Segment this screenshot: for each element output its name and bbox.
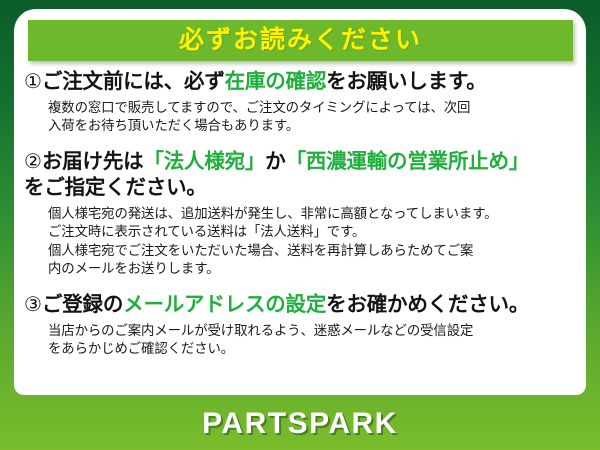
white-content-panel: 必ずお読みください ①ご注文前には、必ず在庫の確認をお願いします。 複数の窓口で… xyxy=(14,9,586,395)
heading-segment: ご注文前には、必ず xyxy=(42,70,225,93)
notice-list: ①ご注文前には、必ず在庫の確認をお願いします。 複数の窓口で販売してますので、ご… xyxy=(14,69,586,359)
notice-marker-3: ③ xyxy=(24,294,42,316)
footer-brand: PARTSPARK xyxy=(0,398,600,450)
notice-item-1-body: 複数の窓口で販売してますので、ご注文のタイミングによっては、次回 入荷をお待ち頂… xyxy=(48,99,578,136)
heading-segment: お届け先は xyxy=(42,150,144,173)
notice-item-3: ③ご登録のメールアドレスの設定をお確かめください。 当店からのご案内メールが受け… xyxy=(14,292,586,359)
notice-marker-2: ② xyxy=(24,151,42,173)
body-line: 入荷をお待ち頂いただく場合もあります。 xyxy=(48,117,578,136)
notice-banner: 必ずお読みください ①ご注文前には、必ず在庫の確認をお願いします。 複数の窓口で… xyxy=(0,0,600,450)
notice-item-3-heading: ③ご登録のメールアドレスの設定をお確かめください。 xyxy=(24,292,578,319)
heading-segment-highlight: 在庫の確認 xyxy=(225,70,327,93)
notice-marker-1: ① xyxy=(24,71,42,93)
brand-name: PARTSPARK xyxy=(202,409,398,439)
body-line: 当店からのご案内メールが受け取れるよう、迷惑メールなどの受信設定 xyxy=(48,322,578,341)
heading-segment-highlight: メールアドレスの設定 xyxy=(123,293,326,316)
title-banner: 必ずお読みください xyxy=(28,20,573,61)
heading-segment: ご登録の xyxy=(42,293,123,316)
notice-item-2-heading: ②お届け先は「法人様宛」か「西濃運輸の営業所止め」 をご指定ください。 xyxy=(24,149,578,202)
heading-segment-highlight: 「法人様宛」 xyxy=(143,150,265,173)
heading-segment: をお願いします。 xyxy=(326,70,486,93)
notice-item-3-body: 当店からのご案内メールが受け取れるよう、迷惑メールなどの受信設定 をあらかじめご… xyxy=(48,322,578,359)
body-line: 複数の窓口で販売してますので、ご注文のタイミングによっては、次回 xyxy=(48,99,578,118)
body-line: 内のメールをお送りします。 xyxy=(48,260,578,279)
body-line: をあらかじめご確認ください。 xyxy=(48,340,578,359)
notice-item-2: ②お届け先は「法人様宛」か「西濃運輸の営業所止め」 をご指定ください。 個人様宅… xyxy=(14,149,586,279)
heading-segment-highlight: 「西濃運輸の営業所止め」 xyxy=(286,150,530,173)
body-line: 個人様宅宛でご注文をいただいた場合、送料を再計算しあらためてご案 xyxy=(48,242,578,261)
body-line: 個人様宅宛の発送は、追加送料が発生し、非常に高額となってしまいます。 xyxy=(48,205,578,224)
notice-item-1-heading: ①ご注文前には、必ず在庫の確認をお願いします。 xyxy=(24,69,578,96)
body-line: ご注文時に表示されている送料は「法人送料」です。 xyxy=(48,223,578,242)
heading-segment: をご指定ください。 xyxy=(24,176,207,199)
notice-item-1: ①ご注文前には、必ず在庫の確認をお願いします。 複数の窓口で販売してますので、ご… xyxy=(14,69,586,136)
banner-title: 必ずお読みください xyxy=(179,28,422,53)
heading-segment: をお確かめください。 xyxy=(326,293,529,316)
notice-item-2-body: 個人様宅宛の発送は、追加送料が発生し、非常に高額となってしまいます。 ご注文時に… xyxy=(48,205,578,279)
heading-segment: か xyxy=(265,150,285,173)
